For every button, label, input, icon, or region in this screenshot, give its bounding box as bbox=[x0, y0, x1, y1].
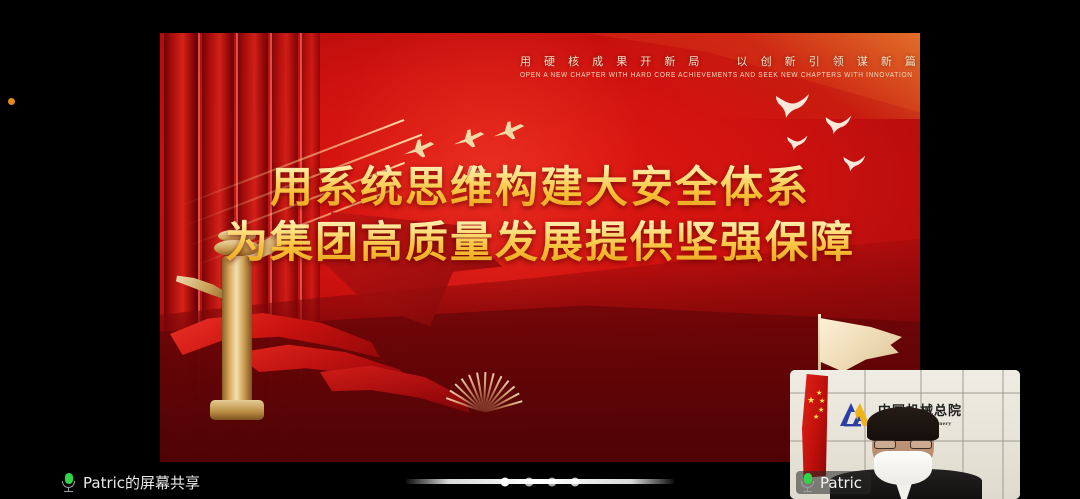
chinese-flag-icon: ★ ★ ★ ★ ★ bbox=[802, 374, 828, 478]
screen-share-label: Patric的屏幕共享 bbox=[83, 472, 200, 493]
screen-share-viewer: 用 硬 核 成 果 开 新 局 以 创 新 引 领 谋 新 篇 OPEN A N… bbox=[0, 0, 1080, 499]
pagination-dot[interactable] bbox=[525, 477, 534, 486]
face-mask bbox=[874, 451, 932, 485]
slide-title-line-1: 用系统思维构建大安全体系 bbox=[160, 161, 920, 216]
dove-icon bbox=[786, 135, 808, 156]
pagination-dot[interactable] bbox=[548, 477, 557, 486]
slide-title-line-2: 为集团高质量发展提供坚强保障 bbox=[160, 216, 920, 271]
participant-name-badge: Patric bbox=[796, 471, 871, 494]
microphone-icon[interactable] bbox=[801, 473, 814, 492]
airplane-icon bbox=[450, 125, 488, 154]
slide-title: 用系统思维构建大安全体系 为集团高质量发展提供坚强保障 bbox=[160, 161, 920, 271]
page-scrollbar[interactable] bbox=[406, 479, 674, 484]
screen-share-status: Patric的屏幕共享 bbox=[62, 472, 200, 493]
participant-name: Patric bbox=[820, 474, 862, 492]
participant-video-tile[interactable]: ★ ★ ★ ★ ★ 中国机械总院 Academy of Machinery bbox=[790, 370, 1020, 499]
dove-icon bbox=[824, 115, 852, 140]
firework-icon bbox=[428, 328, 538, 418]
pagination-dot[interactable] bbox=[501, 477, 510, 486]
recording-indicator-dot bbox=[8, 98, 15, 105]
slide-header-english: OPEN A NEW CHAPTER WITH HARD CORE ACHIEV… bbox=[520, 72, 910, 80]
slide-header-chinese-left: 用 硬 核 成 果 开 新 局 bbox=[520, 56, 704, 68]
pagination-dot[interactable] bbox=[571, 477, 580, 486]
microphone-icon[interactable] bbox=[62, 473, 75, 492]
dove-icon bbox=[774, 93, 810, 124]
slide-header-chinese-right: 以 创 新 引 领 谋 新 篇 bbox=[737, 56, 920, 68]
slide-header-chinese: 用 硬 核 成 果 开 新 局 以 创 新 引 领 谋 新 篇 bbox=[520, 53, 910, 69]
slide-header: 用 硬 核 成 果 开 新 局 以 创 新 引 领 谋 新 篇 OPEN A N… bbox=[520, 53, 910, 79]
